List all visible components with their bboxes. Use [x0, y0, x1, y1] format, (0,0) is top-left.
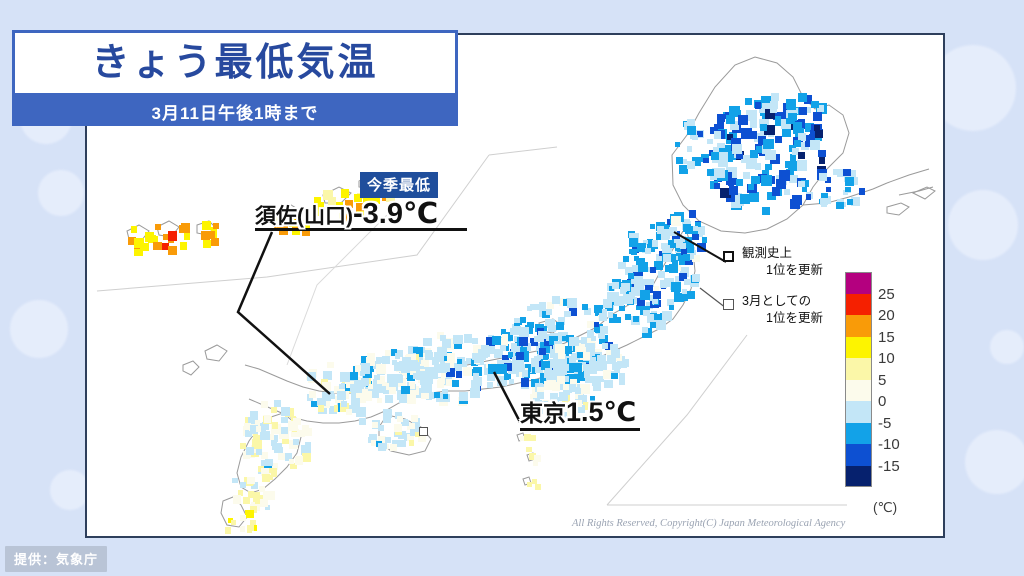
station-square — [859, 188, 866, 195]
station-square — [378, 425, 384, 431]
station-square — [447, 353, 455, 361]
station-square — [717, 114, 725, 122]
station-square — [141, 243, 149, 251]
station-square — [660, 280, 668, 288]
station-square — [488, 364, 498, 374]
header-block: きょう最低気温 3月11日午後1時まで — [12, 30, 458, 126]
station-square — [847, 199, 853, 205]
station-square — [657, 226, 665, 234]
station-square — [298, 430, 305, 437]
station-square — [350, 384, 359, 393]
station-square — [341, 401, 347, 407]
page-title: きょう最低気温 — [91, 44, 378, 82]
station-square — [790, 199, 800, 209]
station-square — [340, 372, 350, 382]
colorbar-bands — [845, 272, 872, 487]
station-square — [307, 372, 315, 380]
station-square — [261, 452, 268, 459]
station-square — [811, 101, 818, 108]
station-square — [464, 334, 473, 343]
station-square — [770, 107, 777, 114]
station-square — [687, 161, 695, 169]
station-square — [748, 184, 755, 191]
station-square — [289, 459, 294, 464]
station-square — [761, 175, 772, 186]
colorbar-band — [845, 294, 872, 316]
station-square — [546, 309, 552, 315]
station-square — [743, 172, 751, 180]
station-square — [634, 256, 639, 261]
tokyo-place-label: 東京 — [520, 400, 566, 426]
station-square — [453, 335, 462, 344]
station-square — [581, 337, 587, 343]
station-square — [440, 366, 448, 374]
station-square — [519, 327, 528, 336]
station-square — [564, 311, 570, 317]
station-square — [671, 216, 680, 225]
colorbar-band — [845, 337, 872, 359]
station-square — [788, 113, 796, 121]
station-square — [697, 243, 706, 252]
station-square — [305, 442, 311, 448]
station-square — [687, 126, 696, 135]
station-square — [382, 443, 387, 448]
colorbar-band — [845, 315, 872, 337]
station-square — [645, 248, 651, 254]
station-square — [745, 98, 752, 105]
station-square — [683, 224, 691, 232]
station-square — [621, 283, 629, 291]
station-square — [751, 176, 760, 185]
station-square — [715, 168, 725, 178]
colorbar-tick-label: 25 — [878, 287, 895, 302]
station-square — [487, 382, 493, 388]
station-square — [569, 384, 576, 391]
station-square — [656, 320, 666, 330]
station-square — [755, 102, 762, 109]
station-square — [396, 375, 404, 383]
station-square — [548, 325, 555, 332]
station-square — [671, 282, 681, 292]
station-square — [240, 482, 245, 487]
station-square — [376, 364, 386, 374]
station-square — [815, 130, 823, 138]
susa-place-label: 須佐(山口) — [255, 205, 353, 228]
station-square — [622, 359, 629, 366]
colorbar-band — [845, 466, 872, 488]
page-subtitle: 3月11日午後1時まで — [152, 99, 319, 124]
station-square — [762, 207, 770, 215]
station-square — [434, 392, 440, 398]
station-square — [385, 395, 393, 403]
station-square — [556, 322, 564, 330]
station-square — [594, 322, 599, 327]
station-square — [256, 426, 261, 431]
colorbar-tick-label: -15 — [878, 459, 900, 474]
station-square — [683, 254, 690, 261]
station-square — [240, 515, 246, 521]
station-square — [604, 380, 612, 388]
station-square — [586, 343, 595, 352]
station-square — [434, 352, 444, 362]
station-square — [247, 477, 255, 485]
station-square — [225, 527, 232, 534]
station-square — [749, 192, 759, 202]
station-square — [585, 376, 592, 383]
station-square — [718, 152, 728, 162]
station-square — [262, 474, 270, 482]
station-square — [278, 453, 285, 460]
station-square — [318, 405, 325, 412]
station-square — [399, 440, 405, 446]
station-square — [729, 186, 738, 195]
station-square — [521, 378, 530, 387]
station-square — [539, 302, 546, 309]
station-square — [416, 371, 426, 381]
annotation-tokyo: 東京1.5℃ — [520, 394, 640, 431]
station-square — [692, 274, 700, 282]
station-square — [562, 336, 568, 342]
colorbar-tick-label: 20 — [878, 308, 895, 323]
station-square — [682, 289, 687, 294]
station-square — [322, 392, 331, 401]
station-square — [798, 93, 807, 102]
station-square — [845, 177, 854, 186]
station-square — [785, 161, 792, 168]
station-square — [168, 246, 177, 255]
station-square — [775, 136, 782, 143]
record-all-time-line2: 1位を更新 — [742, 262, 823, 279]
bubble-decor — [990, 330, 1024, 364]
station-square — [281, 427, 287, 433]
station-square — [438, 378, 444, 384]
station-square — [497, 364, 507, 374]
station-square — [623, 294, 633, 304]
record-legend-item: 3月としての 1位を更新 — [723, 293, 823, 327]
station-square — [263, 491, 271, 499]
colorbar-band — [845, 358, 872, 380]
station-square — [473, 373, 479, 379]
record-legend-item: 観測史上 1位を更新 — [723, 245, 823, 279]
station-square — [457, 359, 462, 364]
station-square — [376, 357, 382, 363]
station-square — [213, 223, 219, 229]
station-square — [600, 326, 608, 334]
station-square — [819, 157, 825, 163]
station-square — [390, 444, 397, 451]
station-square — [381, 386, 387, 392]
station-square — [475, 387, 480, 392]
station-square — [799, 107, 807, 115]
station-square — [155, 224, 161, 230]
station-square — [385, 437, 391, 443]
station-square — [728, 180, 734, 186]
station-square — [327, 362, 334, 369]
station-square — [782, 129, 790, 137]
station-square — [409, 382, 415, 388]
station-square — [794, 140, 801, 147]
station-square — [281, 417, 288, 424]
station-square — [750, 150, 758, 158]
station-square — [509, 379, 515, 385]
tokyo-readout: 東京1.5℃ — [520, 394, 640, 428]
station-square — [619, 379, 625, 385]
station-square — [676, 157, 683, 164]
station-square — [180, 242, 188, 250]
station-square — [638, 262, 648, 272]
station-square — [675, 142, 680, 147]
station-square — [401, 386, 409, 394]
station-square — [389, 387, 396, 394]
station-square — [662, 311, 671, 320]
station-square — [755, 163, 761, 169]
record-march-square-icon — [723, 299, 734, 310]
station-square — [806, 194, 811, 199]
station-square — [395, 353, 400, 358]
station-square — [293, 439, 299, 445]
station-square — [763, 139, 774, 150]
station-square — [669, 305, 674, 310]
station-square — [356, 407, 366, 417]
station-square — [372, 422, 378, 428]
station-square — [707, 169, 714, 176]
station-square — [472, 353, 479, 360]
station-square — [397, 416, 403, 422]
station-square — [383, 409, 392, 418]
station-square — [211, 238, 219, 246]
bubble-decor — [965, 430, 1024, 494]
station-square — [602, 343, 608, 349]
station-square — [569, 356, 576, 363]
map-copyright: All Rights Reserved, Copyright(C) Japan … — [572, 518, 845, 529]
station-square — [545, 368, 551, 374]
station-square — [322, 382, 331, 391]
station-square — [652, 240, 659, 247]
station-square — [582, 304, 588, 310]
station-square — [459, 392, 467, 400]
tokyo-value-label: 1.5℃ — [566, 397, 636, 427]
station-square — [443, 394, 448, 399]
bubble-decor — [948, 190, 1018, 260]
station-square — [271, 407, 277, 413]
station-square — [650, 224, 656, 230]
station-square — [564, 346, 572, 354]
subtitle-bar: 3月11日午後1時まで — [12, 96, 458, 126]
bubble-decor — [10, 300, 68, 358]
record-march-label: 3月としての 1位を更新 — [742, 293, 823, 327]
station-square — [423, 338, 432, 347]
station-square — [599, 313, 607, 321]
colorbar-tick-label: -5 — [878, 416, 891, 431]
station-square — [260, 499, 268, 507]
colorbar-band — [845, 423, 872, 445]
station-square — [603, 370, 611, 378]
station-square — [359, 418, 366, 425]
station-square — [247, 525, 254, 532]
station-square — [738, 115, 748, 125]
colorbar-tick-label: 0 — [878, 394, 886, 409]
station-square — [346, 409, 352, 415]
station-square — [771, 93, 779, 101]
station-square — [231, 520, 236, 525]
station-square — [746, 110, 756, 120]
station-square — [295, 456, 303, 464]
station-square — [654, 314, 660, 320]
station-square — [302, 453, 312, 463]
station-square — [539, 348, 546, 355]
station-square — [555, 344, 564, 353]
station-square — [836, 202, 843, 209]
station-square — [259, 486, 265, 492]
station-square — [592, 376, 602, 386]
station-square — [477, 379, 482, 384]
station-square — [374, 375, 379, 380]
station-square — [685, 237, 692, 244]
station-square — [692, 234, 698, 240]
station-square — [654, 286, 659, 291]
station-square — [813, 112, 822, 121]
station-square — [689, 210, 697, 218]
station-square — [233, 495, 241, 503]
station-square — [246, 447, 255, 456]
station-square — [527, 306, 532, 311]
station-square — [552, 296, 560, 304]
station-square — [779, 170, 790, 181]
station-square — [403, 420, 409, 426]
station-square — [382, 356, 390, 364]
station-square — [611, 373, 617, 379]
station-square — [845, 187, 851, 193]
station-square — [535, 484, 541, 490]
station-square — [760, 124, 767, 131]
record-march-line2: 1位を更新 — [742, 310, 823, 327]
station-square — [625, 314, 631, 320]
colorbar-band — [845, 272, 872, 294]
station-square — [797, 160, 808, 171]
station-square — [277, 447, 283, 453]
station-square — [629, 249, 634, 254]
colorbar-tick-label: 15 — [878, 330, 895, 345]
station-square — [202, 221, 211, 230]
record-all-time-label: 観測史上 1位を更新 — [742, 245, 823, 279]
station-square — [530, 435, 536, 441]
station-square — [520, 317, 525, 322]
station-square — [563, 384, 569, 390]
station-square — [591, 336, 596, 341]
station-square — [569, 337, 579, 347]
colorbar-band — [845, 401, 872, 423]
station-square — [522, 370, 528, 376]
station-square — [399, 396, 407, 404]
station-square — [588, 365, 597, 374]
bubble-decor — [50, 470, 90, 510]
station-square — [510, 328, 517, 335]
station-square — [612, 282, 618, 288]
station-square — [642, 327, 648, 333]
station-square — [740, 194, 750, 204]
station-square — [153, 242, 161, 250]
station-square — [693, 226, 698, 231]
station-square — [640, 290, 650, 300]
station-square — [680, 243, 686, 249]
station-square — [472, 338, 478, 344]
station-square — [243, 497, 250, 504]
station-square — [658, 271, 665, 278]
station-square — [820, 198, 827, 205]
bubble-decor — [38, 170, 84, 216]
station-square — [826, 187, 831, 192]
station-square — [732, 144, 742, 154]
station-square — [377, 398, 382, 403]
station-square — [367, 353, 375, 361]
station-square — [726, 115, 735, 124]
station-square — [687, 146, 693, 152]
station-square — [245, 510, 253, 518]
station-square — [534, 455, 541, 462]
station-square — [802, 187, 807, 192]
station-square — [650, 267, 656, 273]
station-square — [288, 421, 298, 431]
station-square — [750, 121, 757, 128]
station-square — [248, 491, 254, 497]
station-square — [653, 291, 661, 299]
colorbar-band — [845, 444, 872, 466]
station-square — [707, 139, 713, 145]
station-square — [544, 381, 553, 390]
station-square — [260, 431, 269, 440]
station-square — [519, 337, 529, 347]
station-square — [309, 391, 316, 398]
record-legend: 観測史上 1位を更新 3月としての 1位を更新 — [723, 245, 823, 341]
season-low-badge: 今季最低 — [360, 172, 438, 198]
station-square — [741, 128, 752, 139]
record-all-time-square-icon — [723, 251, 734, 262]
station-square — [819, 173, 827, 181]
station-square — [714, 131, 722, 139]
colorbar-band — [845, 380, 872, 402]
station-square — [463, 367, 472, 376]
station-square — [818, 150, 826, 158]
station-square — [409, 440, 414, 445]
station-square — [670, 243, 676, 249]
provider-tag: 提供：気象庁 — [5, 546, 107, 572]
colorbar-tick-label: 10 — [878, 351, 895, 366]
station-square — [500, 345, 506, 351]
colorbar-tick-label: -10 — [878, 437, 900, 452]
station-square — [628, 273, 634, 279]
station-square — [650, 322, 656, 328]
station-square — [261, 401, 268, 408]
station-square — [634, 276, 643, 285]
station-square — [232, 478, 238, 484]
record-all-time-line1: 観測史上 — [742, 246, 792, 260]
colorbar-tick-label: 5 — [878, 373, 886, 388]
station-square — [633, 316, 639, 322]
station-square — [452, 380, 459, 387]
station-square — [337, 391, 346, 400]
station-square — [274, 400, 281, 407]
station-square — [264, 416, 271, 423]
station-square — [798, 152, 806, 160]
station-square — [411, 415, 418, 422]
station-square — [492, 336, 501, 345]
station-square — [407, 394, 416, 403]
station-square — [843, 169, 850, 176]
station-square — [558, 366, 568, 376]
susa-readout: 須佐(山口)-3.9℃ — [255, 199, 467, 229]
station-square — [567, 298, 577, 308]
station-square — [711, 152, 719, 160]
